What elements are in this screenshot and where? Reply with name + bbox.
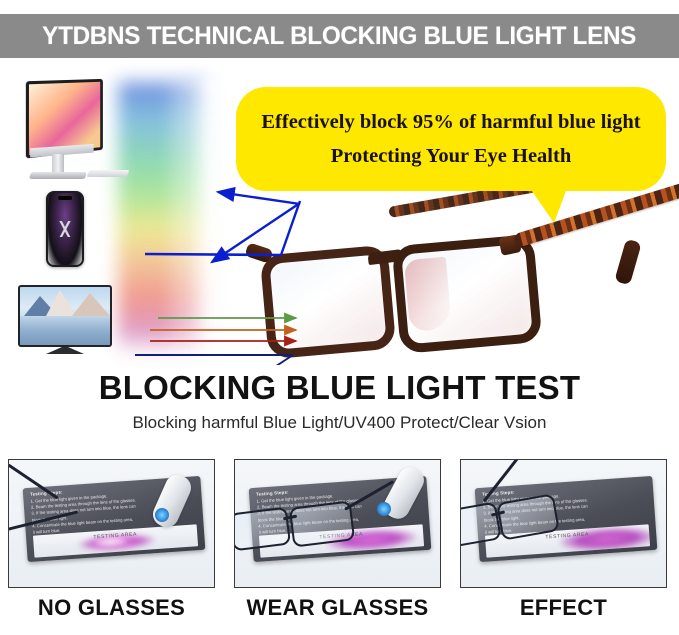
panel-wear-glasses-photo: Testing Steps: 1. Get the blue light giv…	[234, 459, 441, 588]
blue-ray-reflected-lower	[135, 355, 293, 365]
eyeglasses-lens-right	[496, 493, 560, 540]
speech-bubble-text: Effectively block 95% of harmful blue li…	[236, 87, 666, 191]
eyeglasses-lens-left	[234, 507, 291, 552]
eyeglasses-lens-left	[460, 501, 502, 548]
uv-flashlight-tip	[377, 502, 391, 516]
hero-illustration: Effectively block 95% of harmful blue li…	[0, 58, 679, 365]
test-panels-row: Testing Steps: 1. Get the blue light giv…	[8, 459, 671, 629]
panel-no-glasses: Testing Steps: 1. Get the blue light giv…	[8, 459, 215, 629]
section-title: BLOCKING BLUE LIGHT TEST	[0, 368, 679, 408]
panel-wear-glasses: Testing Steps: 1. Get the blue light giv…	[234, 459, 441, 629]
panel-no-glasses-photo: Testing Steps: 1. Get the blue light giv…	[8, 459, 215, 588]
uv-glow	[559, 525, 650, 554]
panel-effect-photo: Testing Steps: 1. Get the blue light giv…	[460, 459, 667, 588]
uv-flashlight-tip	[155, 508, 169, 522]
bubble-line-1: Effectively block 95% of harmful blue li…	[261, 105, 640, 139]
eyeglasses-overlay	[460, 492, 553, 548]
panel-label: NO GLASSES	[38, 595, 185, 621]
card-steps-title: Testing Steps:	[256, 490, 289, 497]
eyeglasses-arm	[483, 459, 526, 502]
panel-label: WEAR GLASSES	[246, 595, 428, 621]
section-subtitle: Blocking harmful Blue Light/UV400 Protec…	[0, 410, 679, 436]
panel-label: EFFECT	[520, 595, 607, 621]
panel-effect: Testing Steps: 1. Get the blue light giv…	[460, 459, 667, 629]
eyeglasses-overlay	[234, 500, 351, 552]
page-title: YTDBNS TECHNICAL BLOCKING BLUE LIGHT LEN…	[43, 22, 637, 51]
section-heading-block: BLOCKING BLUE LIGHT TEST Blocking harmfu…	[0, 368, 679, 436]
header-banner: YTDBNS TECHNICAL BLOCKING BLUE LIGHT LEN…	[0, 14, 679, 58]
bubble-line-2: Protecting Your Eye Health	[331, 139, 571, 173]
